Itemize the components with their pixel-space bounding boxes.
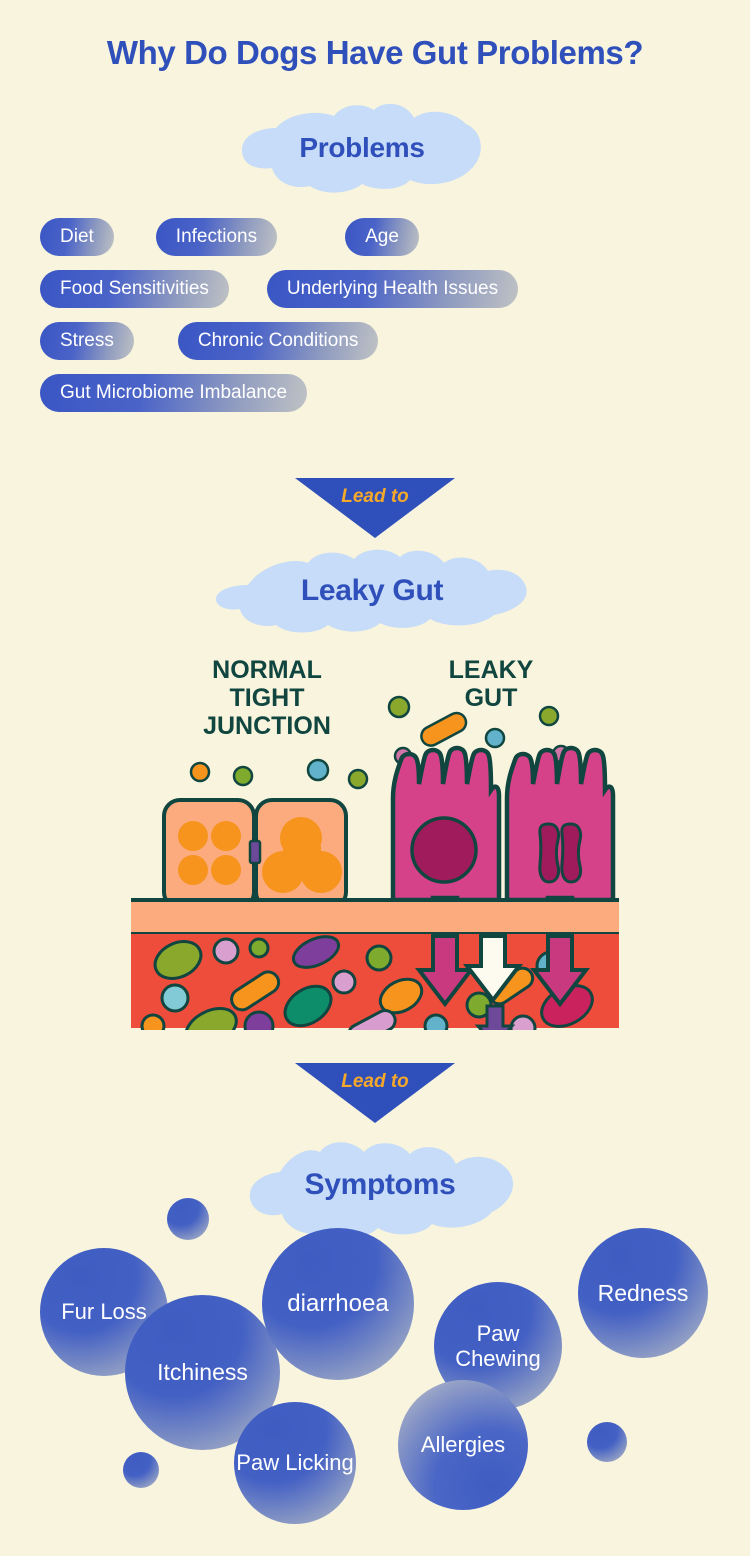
- lead-to-arrow-2: Lead to: [295, 1063, 455, 1123]
- pill-food-sensitivities[interactable]: Food Sensitivities: [40, 270, 229, 308]
- pill-row-2: Food Sensitivities Underlying Health Iss…: [0, 270, 750, 308]
- problem-pill-list: Diet Infections Age Food Sensitivities U…: [0, 218, 750, 426]
- gut-diagram-svg: NORMAL TIGHT JUNCTION LEAKY GUT: [131, 648, 619, 1030]
- pill-infections[interactable]: Infections: [156, 218, 277, 256]
- svg-text:GUT: GUT: [465, 684, 518, 712]
- pill-age[interactable]: Age: [345, 218, 419, 256]
- symptom-bubble-decorative-9: [587, 1422, 627, 1462]
- leaky-gut-label: LEAKY GUT: [449, 656, 534, 712]
- symptom-bubble-label: Allergies: [421, 1432, 505, 1457]
- infographic-page: Why Do Dogs Have Gut Problems? Problems …: [0, 0, 750, 1556]
- symptom-bubble-allergies[interactable]: Allergies: [398, 1380, 528, 1510]
- pill-chronic-conditions[interactable]: Chronic Conditions: [178, 322, 379, 360]
- pill-diet[interactable]: Diet: [40, 218, 114, 256]
- symptom-bubble-label: Fur Loss: [61, 1299, 147, 1324]
- symptom-bubble-label: Redness: [598, 1280, 689, 1306]
- lead-to-label-2: Lead to: [295, 1071, 455, 1093]
- leaky-gut-diagram: NORMAL TIGHT JUNCTION LEAKY GUT: [131, 648, 619, 1030]
- lead-to-label-1: Lead to: [295, 486, 455, 508]
- svg-text:NORMAL: NORMAL: [212, 656, 322, 684]
- normal-epithelial-cells: [164, 800, 346, 908]
- symptom-bubble-cluster: Fur LossItchinessdiarrhoeaPaw LickingPaw…: [0, 1190, 750, 1556]
- symptom-bubble-paw-licking[interactable]: Paw Licking: [234, 1402, 356, 1524]
- svg-text:LEAKY: LEAKY: [449, 656, 534, 684]
- symptom-bubble-label: Paw Chewing: [434, 1321, 562, 1372]
- leaky-gut-cloud-heading: Leaky Gut: [212, 545, 532, 637]
- lead-to-arrow-1: Lead to: [295, 478, 455, 538]
- pill-stress[interactable]: Stress: [40, 322, 134, 360]
- pill-row-4: Gut Microbiome Imbalance: [0, 374, 750, 412]
- pill-underlying-health-issues[interactable]: Underlying Health Issues: [267, 270, 518, 308]
- bloodstream-layer: [131, 930, 619, 1030]
- tight-junction-icon: [250, 841, 260, 863]
- symptom-bubble-decorative-7: [167, 1198, 209, 1240]
- normal-tight-junction-label: NORMAL TIGHT JUNCTION: [203, 656, 331, 740]
- svg-text:JUNCTION: JUNCTION: [203, 712, 331, 740]
- symptom-bubble-redness[interactable]: Redness: [578, 1228, 708, 1358]
- pill-row-1: Diet Infections Age: [0, 218, 750, 256]
- symptom-bubble-label: Paw Licking: [236, 1450, 353, 1475]
- symptom-bubble-diarrhoea[interactable]: diarrhoea: [262, 1228, 414, 1380]
- symptom-bubble-label: diarrhoea: [287, 1290, 388, 1318]
- membrane-band: [131, 900, 619, 934]
- problems-heading-label: Problems: [232, 100, 492, 196]
- svg-text:TIGHT: TIGHT: [230, 684, 305, 712]
- symptom-bubble-label: Itchiness: [157, 1359, 248, 1385]
- page-title: Why Do Dogs Have Gut Problems?: [0, 34, 750, 72]
- pill-row-3: Stress Chronic Conditions: [0, 322, 750, 360]
- problems-cloud-heading: Problems: [232, 100, 492, 196]
- symptom-bubble-decorative-8: [123, 1452, 159, 1488]
- pill-gut-microbiome-imbalance[interactable]: Gut Microbiome Imbalance: [40, 374, 307, 412]
- leaky-gut-heading-label: Leaky Gut: [212, 545, 532, 637]
